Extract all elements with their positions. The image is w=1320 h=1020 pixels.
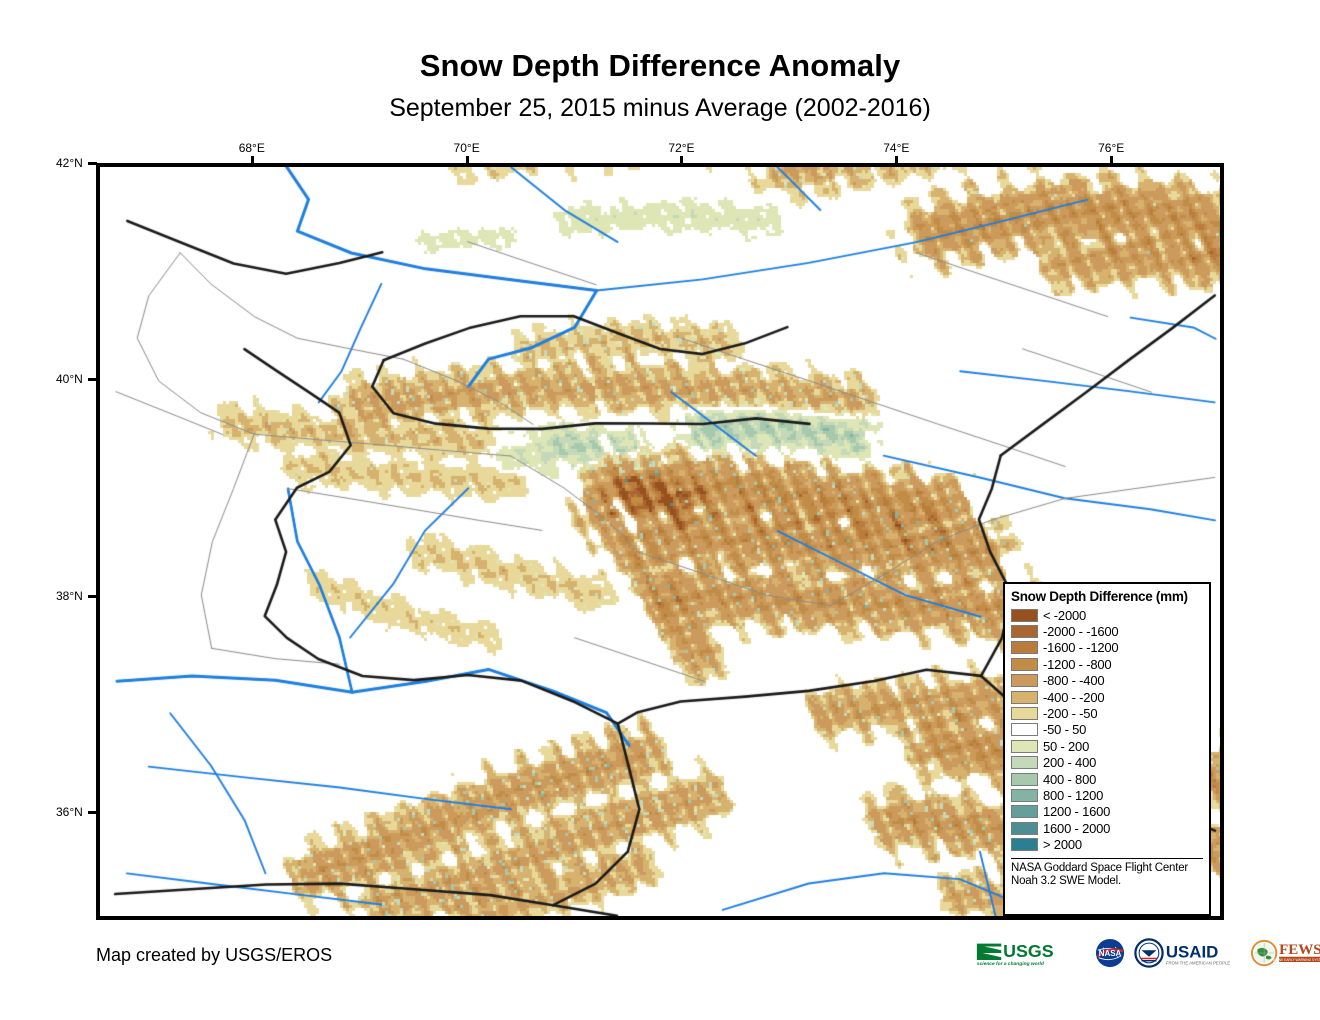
legend-swatch bbox=[1011, 805, 1038, 818]
lon-tick-mark bbox=[466, 156, 469, 165]
legend-swatch bbox=[1011, 674, 1038, 687]
legend-swatch bbox=[1011, 773, 1038, 786]
legend-entry: -1200 - -800 bbox=[1011, 656, 1203, 672]
legend-swatch bbox=[1011, 789, 1038, 802]
legend-entry: -50 - 50 bbox=[1011, 722, 1203, 738]
svg-text:USAID: USAID bbox=[1166, 943, 1218, 962]
legend-swatch bbox=[1011, 658, 1038, 671]
lat-tick-label: 40°N bbox=[56, 372, 83, 386]
usaid-logo: USAID FROM THE AMERICAN PEOPLE bbox=[1134, 938, 1243, 968]
legend-source-line-2: Noah 3.2 SWE Model. bbox=[1011, 875, 1203, 889]
lon-tick-label: 68°E bbox=[239, 141, 265, 155]
svg-text:FROM THE AMERICAN PEOPLE: FROM THE AMERICAN PEOPLE bbox=[1166, 961, 1231, 966]
nasa-logo: NASA bbox=[1095, 938, 1125, 968]
legend-entry: -2000 - -1600 bbox=[1011, 623, 1203, 639]
lat-tick-mark bbox=[88, 378, 97, 381]
legend-swatch bbox=[1011, 838, 1038, 851]
legend-entry: 1600 - 2000 bbox=[1011, 820, 1203, 836]
lat-tick-label: 42°N bbox=[56, 156, 83, 170]
legend-label: < -2000 bbox=[1043, 608, 1086, 623]
legend-entry: 800 - 1200 bbox=[1011, 787, 1203, 803]
svg-text:NASA: NASA bbox=[1098, 949, 1121, 958]
legend-label: -200 - -50 bbox=[1043, 706, 1097, 721]
lat-tick-label: 38°N bbox=[56, 589, 83, 603]
lon-tick-mark bbox=[680, 156, 683, 165]
svg-text:FEWS NET: FEWS NET bbox=[1280, 942, 1320, 958]
lon-tick-label: 70°E bbox=[454, 141, 480, 155]
lon-tick-mark bbox=[1110, 156, 1113, 165]
legend-entry: 50 - 200 bbox=[1011, 738, 1203, 754]
legend-label: -50 - 50 bbox=[1043, 722, 1086, 737]
legend-label: 800 - 1200 bbox=[1043, 788, 1103, 803]
legend-swatch bbox=[1011, 691, 1038, 704]
legend-entry: > 2000 bbox=[1011, 836, 1203, 852]
legend-entry: 400 - 800 bbox=[1011, 771, 1203, 787]
legend-label: 1600 - 2000 bbox=[1043, 821, 1110, 836]
lat-tick-label: 36°N bbox=[56, 805, 83, 819]
legend-entry-list: < -2000-2000 - -1600-1600 - -1200-1200 -… bbox=[1011, 607, 1203, 853]
legend-source-note: NASA Goddard Space Flight Center Noah 3.… bbox=[1011, 858, 1203, 889]
legend-source-line-1: NASA Goddard Space Flight Center bbox=[1011, 862, 1203, 876]
legend-entry: < -2000 bbox=[1011, 607, 1203, 623]
page-title: Snow Depth Difference Anomaly bbox=[0, 48, 1320, 84]
legend-swatch bbox=[1011, 822, 1038, 835]
legend-panel: Snow Depth Difference (mm) < -2000-2000 … bbox=[1003, 582, 1211, 916]
legend-entry: -200 - -50 bbox=[1011, 705, 1203, 721]
lon-tick-label: 74°E bbox=[883, 141, 909, 155]
legend-label: 200 - 400 bbox=[1043, 755, 1096, 770]
legend-swatch bbox=[1011, 707, 1038, 720]
svg-text:FAMINE EARLY WARNING SYSTEMS N: FAMINE EARLY WARNING SYSTEMS NETWORK bbox=[1271, 958, 1320, 962]
legend-swatch bbox=[1011, 756, 1038, 769]
legend-swatch bbox=[1011, 723, 1038, 736]
svg-text:science for a changing world: science for a changing world bbox=[977, 961, 1045, 967]
map-credit: Map created by USGS/EROS bbox=[96, 945, 332, 966]
legend-entry: 200 - 400 bbox=[1011, 755, 1203, 771]
legend-label: 50 - 200 bbox=[1043, 739, 1089, 754]
legend-label: -1200 - -800 bbox=[1043, 657, 1111, 672]
lat-tick-mark bbox=[88, 811, 97, 814]
svg-text:USGS: USGS bbox=[1003, 941, 1054, 961]
legend-label: 1200 - 1600 bbox=[1043, 804, 1110, 819]
fewsnet-logo: FEWS NET FAMINE EARLY WARNING SYSTEMS NE… bbox=[1251, 938, 1320, 968]
lat-tick-mark bbox=[88, 162, 97, 165]
page-subtitle: September 25, 2015 minus Average (2002-2… bbox=[0, 94, 1320, 123]
legend-label: 400 - 800 bbox=[1043, 772, 1096, 787]
legend-swatch bbox=[1011, 609, 1038, 622]
legend-entry: -1600 - -1200 bbox=[1011, 640, 1203, 656]
logo-bar: USGS science for a changing world NASA U… bbox=[975, 936, 1320, 970]
lon-tick-mark bbox=[895, 156, 898, 165]
legend-label: -2000 - -1600 bbox=[1043, 624, 1118, 639]
legend-label: -400 - -200 bbox=[1043, 690, 1104, 705]
legend-label: > 2000 bbox=[1043, 837, 1082, 852]
lon-tick-label: 72°E bbox=[668, 141, 694, 155]
lon-tick-label: 76°E bbox=[1098, 141, 1124, 155]
legend-title: Snow Depth Difference (mm) bbox=[1011, 589, 1203, 604]
legend-swatch bbox=[1011, 641, 1038, 654]
legend-label: -800 - -400 bbox=[1043, 673, 1104, 688]
legend-entry: -400 - -200 bbox=[1011, 689, 1203, 705]
lon-tick-mark bbox=[251, 156, 254, 165]
usgs-logo: USGS science for a changing world bbox=[975, 938, 1086, 968]
legend-entry: -800 - -400 bbox=[1011, 673, 1203, 689]
legend-swatch bbox=[1011, 625, 1038, 638]
legend-swatch bbox=[1011, 740, 1038, 753]
legend-entry: 1200 - 1600 bbox=[1011, 804, 1203, 820]
lat-tick-mark bbox=[88, 595, 97, 598]
legend-label: -1600 - -1200 bbox=[1043, 640, 1118, 655]
